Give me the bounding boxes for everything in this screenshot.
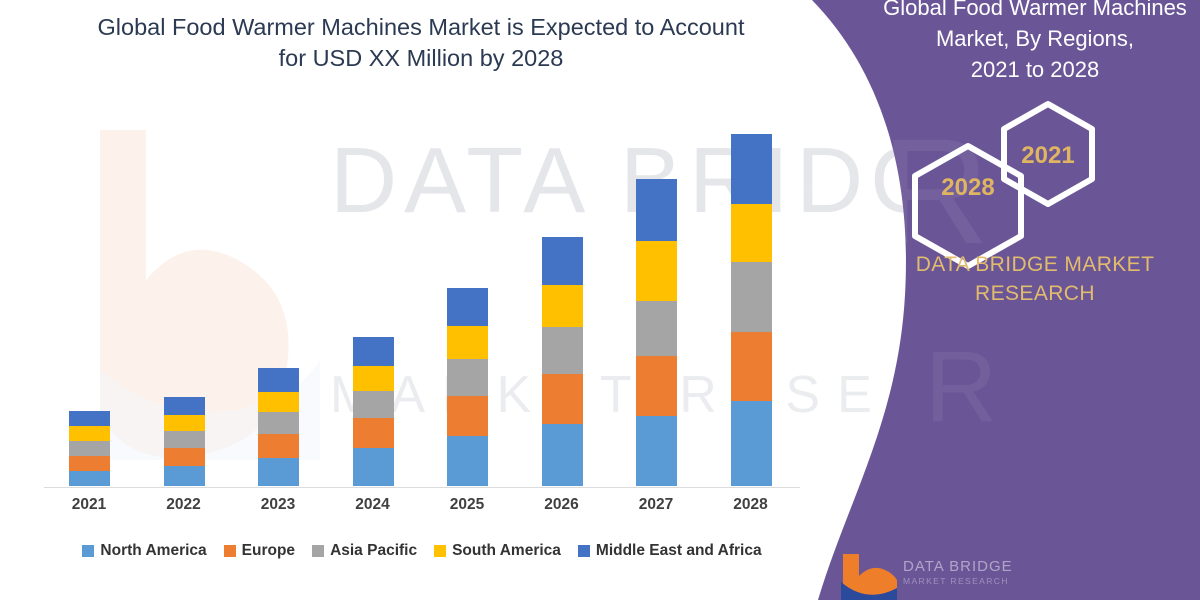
- bar-segment-south-america: [636, 241, 677, 301]
- bar-group-2025[interactable]: [422, 109, 512, 486]
- right-panel-content: BR R R Global Food Warmer Machines Marke…: [905, 0, 1200, 600]
- x-axis-label-2023: 2023: [233, 496, 323, 514]
- bar-segment-south-america: [69, 426, 110, 441]
- bar-segment-south-america: [731, 204, 772, 262]
- bar-segment-europe: [542, 374, 583, 424]
- bar-segment-north-america: [69, 471, 110, 486]
- bar-segment-north-america: [164, 466, 205, 486]
- infographic-canvas: DATA BRIDGE MARKET RESEARCH Global Food …: [0, 0, 1200, 600]
- bar-segment-south-america: [353, 366, 394, 391]
- bar-group-2022[interactable]: [139, 109, 229, 486]
- brand-line-1: DATA BRIDGE MARKET: [845, 250, 1200, 279]
- bar-segment-asia-pacific: [353, 391, 394, 418]
- stacked-bar[interactable]: [447, 288, 488, 486]
- brand-line-2: RESEARCH: [845, 279, 1200, 308]
- chart-plot-area: [44, 110, 800, 487]
- bar-segment-middle-east-and-africa: [353, 337, 394, 366]
- bar-segment-europe: [164, 448, 205, 466]
- x-axis-label-2028: 2028: [706, 496, 796, 514]
- stacked-bar[interactable]: [542, 237, 583, 486]
- left-chart-panel: DATA BRIDGE MARKET RESEARCH Global Food …: [0, 0, 830, 600]
- legend-item-south-america[interactable]: South America: [434, 542, 561, 560]
- bar-segment-asia-pacific: [636, 301, 677, 356]
- bar-segment-europe: [447, 396, 488, 436]
- bar-segment-middle-east-and-africa: [69, 411, 110, 426]
- x-axis-line: [44, 487, 800, 488]
- corner-logo: DATA BRIDGE MARKET RESEARCH: [835, 552, 1200, 600]
- legend-swatch-icon: [312, 545, 324, 557]
- bar-group-2024[interactable]: [328, 109, 418, 486]
- hexagon-group: 2021 2028: [895, 98, 1135, 238]
- legend-label: Asia Pacific: [330, 542, 417, 560]
- legend-swatch-icon: [82, 545, 94, 557]
- bar-segment-europe: [258, 434, 299, 458]
- bar-group-2023[interactable]: [233, 109, 323, 486]
- corner-logo-subtext: MARKET RESEARCH: [903, 576, 1009, 586]
- bar-segment-north-america: [447, 436, 488, 486]
- stacked-bar[interactable]: [636, 179, 677, 486]
- x-axis-label-2027: 2027: [611, 496, 701, 514]
- stacked-bar-chart: [44, 110, 800, 488]
- legend-label: North America: [100, 542, 206, 560]
- bar-segment-middle-east-and-africa: [258, 368, 299, 392]
- bar-segment-middle-east-and-africa: [164, 397, 205, 415]
- bar-segment-north-america: [731, 401, 772, 486]
- bar-segment-europe: [636, 356, 677, 416]
- bar-segment-middle-east-and-africa: [731, 134, 772, 204]
- stacked-bar[interactable]: [164, 397, 205, 486]
- stacked-bar[interactable]: [69, 411, 110, 486]
- bar-segment-asia-pacific: [447, 359, 488, 396]
- x-axis-label-2026: 2026: [517, 496, 607, 514]
- hexagon-large-label: 2028: [903, 174, 1033, 202]
- x-axis-label-2024: 2024: [328, 496, 418, 514]
- panel-title: Global Food Warmer Machines Market, By R…: [845, 0, 1200, 85]
- brand-name: DATA BRIDGE MARKET RESEARCH: [845, 250, 1200, 308]
- bar-group-2026[interactable]: [517, 109, 607, 486]
- legend-item-middle-east-and-africa[interactable]: Middle East and Africa: [578, 542, 762, 560]
- bar-group-2021[interactable]: [44, 109, 134, 486]
- bar-segment-north-america: [353, 448, 394, 486]
- x-axis-label-2021: 2021: [44, 496, 134, 514]
- stacked-bar[interactable]: [258, 368, 299, 486]
- legend-label: South America: [452, 542, 561, 560]
- bar-segment-asia-pacific: [542, 327, 583, 374]
- x-axis-labels: 20212022202320242025202620272028: [44, 496, 800, 520]
- legend-item-europe[interactable]: Europe: [224, 542, 295, 560]
- bar-segment-asia-pacific: [69, 441, 110, 456]
- bar-segment-middle-east-and-africa: [636, 179, 677, 241]
- legend-swatch-icon: [224, 545, 236, 557]
- corner-logo-icon: [835, 552, 897, 600]
- bar-segment-south-america: [542, 285, 583, 327]
- bar-segment-europe: [69, 456, 110, 471]
- bar-segment-north-america: [258, 458, 299, 486]
- bar-segment-north-america: [542, 424, 583, 486]
- legend-item-asia-pacific[interactable]: Asia Pacific: [312, 542, 417, 560]
- corner-logo-text: DATA BRIDGE: [903, 558, 1013, 575]
- bar-segment-asia-pacific: [258, 412, 299, 434]
- legend-swatch-icon: [578, 545, 590, 557]
- bar-segment-middle-east-and-africa: [447, 288, 488, 326]
- stacked-bar[interactable]: [731, 134, 772, 486]
- page-title: Global Food Warmer Machines Market is Ex…: [56, 12, 786, 74]
- x-axis-label-2022: 2022: [139, 496, 229, 514]
- bar-group-2027[interactable]: [611, 109, 701, 486]
- bar-segment-north-america: [636, 416, 677, 486]
- bar-segment-europe: [731, 332, 772, 401]
- chart-legend: North AmericaEuropeAsia PacificSouth Ame…: [44, 538, 800, 564]
- panel-title-line-1: Global Food Warmer Machines: [845, 0, 1200, 23]
- page-title-line-1: Global Food Warmer Machines Market is Ex…: [56, 12, 786, 43]
- bar-segment-south-america: [258, 392, 299, 412]
- panel-title-line-3: 2021 to 2028: [845, 54, 1200, 85]
- bar-segment-south-america: [164, 415, 205, 431]
- purple-watermark-2: R R: [785, 330, 1017, 445]
- bar-segment-asia-pacific: [731, 262, 772, 332]
- legend-label: Europe: [242, 542, 295, 560]
- x-axis-label-2025: 2025: [422, 496, 512, 514]
- panel-title-line-2: Market, By Regions,: [845, 23, 1200, 54]
- bar-segment-asia-pacific: [164, 431, 205, 448]
- legend-label: Middle East and Africa: [596, 542, 762, 560]
- page-title-line-2: for USD XX Million by 2028: [56, 43, 786, 74]
- bar-segment-europe: [353, 418, 394, 448]
- stacked-bar[interactable]: [353, 337, 394, 486]
- bar-segment-middle-east-and-africa: [542, 237, 583, 285]
- bar-segment-south-america: [447, 326, 488, 359]
- legend-item-north-america[interactable]: North America: [82, 542, 206, 560]
- legend-swatch-icon: [434, 545, 446, 557]
